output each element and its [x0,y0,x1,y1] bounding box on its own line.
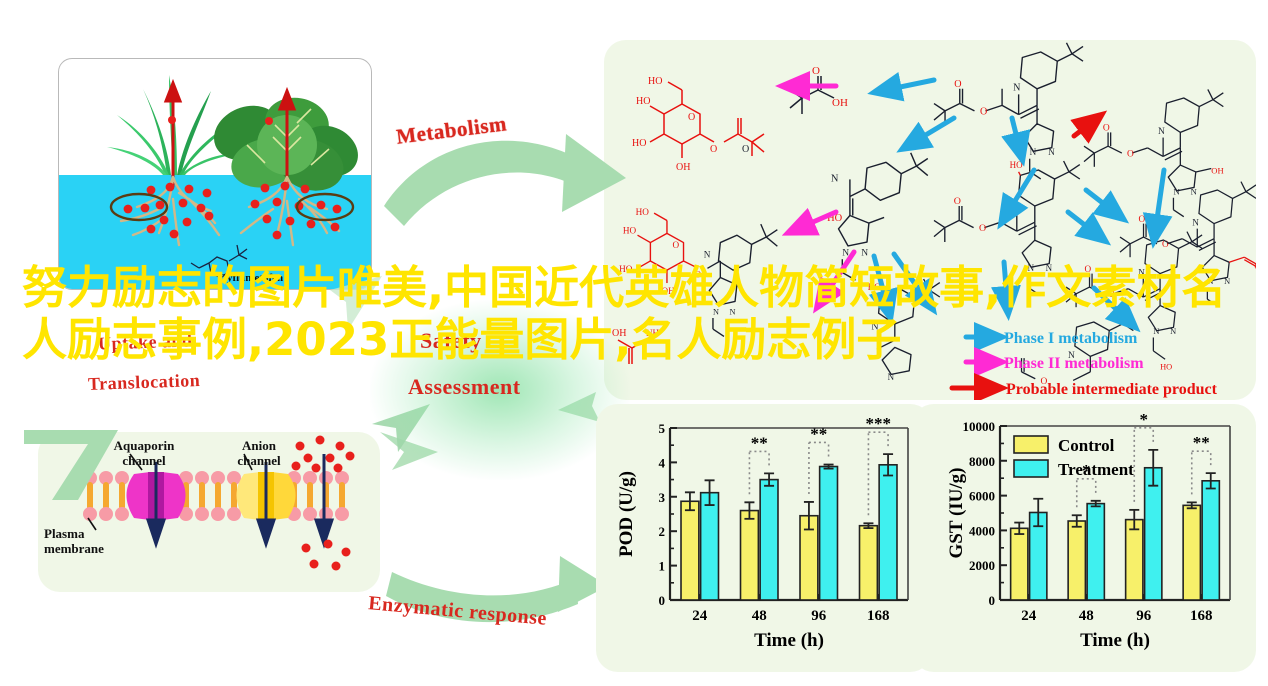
bar-gst-96-treatment [1145,468,1162,600]
bar-gst-168-treatment [1202,481,1219,600]
bar-pod-168-control [860,526,878,600]
arrow-metabolism [384,141,584,226]
pod-bar-chart: 0123452448**96**168***POD (U/g)Time (h) [596,404,932,672]
arrow-safety-in [558,392,600,422]
label-uptake-line2: Translocation [88,370,201,395]
bar-pod-48-treatment [760,480,778,600]
x-axis-label: Time (h) [754,630,824,651]
significance-marker: *** [866,414,892,433]
pod-chart-panel: 0123452448**96**168***POD (U/g)Time (h) [596,404,932,672]
bar-gst-48-control [1068,521,1085,600]
bar-gst-48-treatment [1087,504,1104,600]
significance-marker: ** [810,424,827,443]
bar-pod-168-treatment [879,465,897,600]
legend-swatch-control [1014,436,1048,453]
arrow-plant-out [330,276,382,330]
significance-marker: ** [1193,433,1210,452]
x-tick-label-96: 96 [1136,608,1152,624]
y-axis-label: GST (IU/g) [946,468,967,559]
legend-swatch-treatment [1014,460,1048,477]
bar-gst-96-control [1126,520,1143,600]
bar-pod-48-control [741,511,759,600]
bar-pod-24-treatment [701,493,719,600]
label-safety-line1: Safety [420,328,482,354]
x-tick-label-168: 168 [867,608,890,624]
bar-pod-24-control [681,501,699,600]
y-tick-label: 2 [659,524,666,539]
x-tick-label-168: 168 [1190,608,1213,624]
y-tick-label: 10000 [963,419,996,434]
y-tick-label: 6000 [969,489,995,504]
x-tick-label-48: 48 [1079,608,1094,624]
y-tick-label: 0 [659,593,666,608]
arrow-down-left [24,430,118,500]
x-tick-label-24: 24 [692,608,708,624]
y-tick-label: 2000 [969,558,995,573]
bar-pod-96-treatment [820,467,838,600]
bar-gst-24-control [1011,528,1028,600]
significance-marker: ** [751,433,768,452]
legend-label-treatment: Treatment [1058,460,1134,479]
x-axis-label: Time (h) [1080,630,1150,651]
y-tick-label: 1 [659,559,666,574]
y-tick-label: 5 [659,421,666,436]
y-tick-label: 3 [659,490,666,505]
y-axis-label: POD (U/g) [616,471,637,557]
y-tick-label: 4000 [969,523,995,538]
label-uptake-line1: Uptake and [98,330,193,354]
arrow-left-chevron [380,432,438,470]
legend-label-control: Control [1058,436,1115,455]
x-tick-label-24: 24 [1021,608,1037,624]
y-tick-label: 4 [659,455,666,470]
x-tick-label-96: 96 [811,608,827,624]
y-tick-label: 8000 [969,454,995,469]
gst-chart-panel: 02000400060008000100002448*96*168**GST (… [912,404,1256,672]
bar-gst-168-control [1183,505,1200,600]
label-safety-line2: Assessment [408,374,521,400]
y-tick-label: 0 [989,593,996,608]
gst-bar-chart: 02000400060008000100002448*96*168**GST (… [912,404,1256,672]
arrow-safety-chevron [372,404,430,452]
x-tick-label-48: 48 [752,608,767,624]
figure-canvas: Cyflumetofen [0,0,1268,686]
significance-marker: * [1140,410,1149,429]
